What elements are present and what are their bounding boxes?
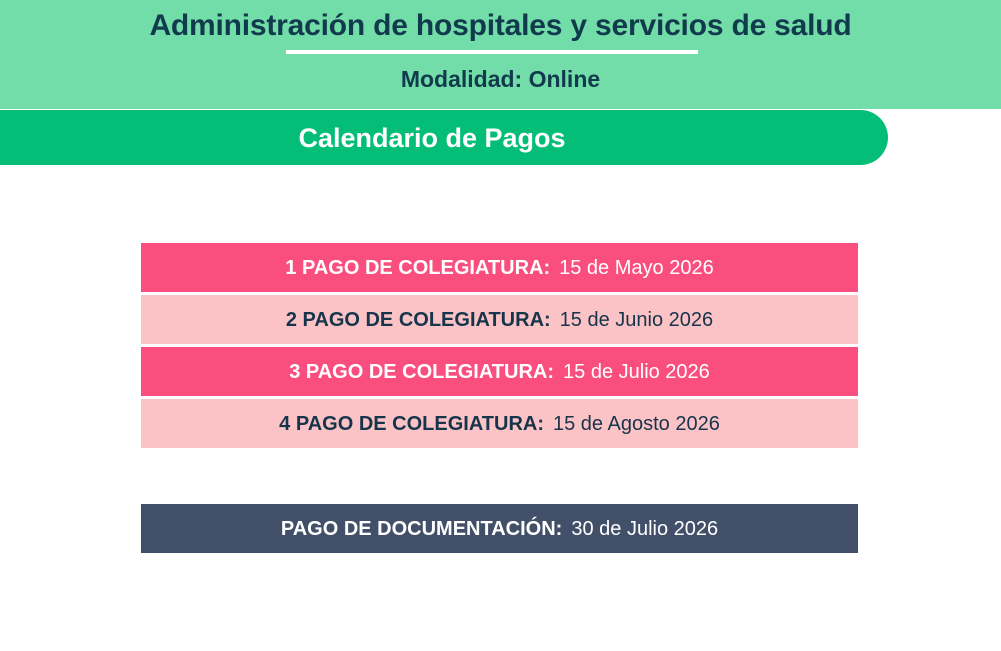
- modality-label: Modalidad: Online: [0, 63, 1001, 95]
- payment-date: 15 de Junio 2026: [560, 308, 713, 332]
- payment-label: 3 PAGO DE COLEGIATURA:: [289, 360, 554, 384]
- payment-date: 15 de Julio 2026: [563, 360, 710, 384]
- table-row: 3 PAGO DE COLEGIATURA: 15 de Julio 2026: [141, 347, 858, 396]
- payment-label: 1 PAGO DE COLEGIATURA:: [285, 256, 550, 280]
- table-row: 4 PAGO DE COLEGIATURA: 15 de Agosto 2026: [141, 399, 858, 448]
- payment-label: 4 PAGO DE COLEGIATURA:: [279, 412, 544, 436]
- calendar-banner: Calendario de Pagos: [0, 110, 888, 165]
- table-row: 2 PAGO DE COLEGIATURA: 15 de Junio 2026: [141, 295, 858, 344]
- documentation-payment-row: PAGO DE DOCUMENTACIÓN: 30 de Julio 2026: [141, 504, 858, 553]
- header-band: Administración de hospitales y servicios…: [0, 0, 1001, 109]
- tuition-payment-list: 1 PAGO DE COLEGIATURA: 15 de Mayo 2026 2…: [141, 243, 858, 451]
- title-divider: [286, 50, 698, 54]
- page-title: Administración de hospitales y servicios…: [0, 6, 1001, 46]
- payment-label: 2 PAGO DE COLEGIATURA:: [286, 308, 551, 332]
- payment-date: 15 de Mayo 2026: [559, 256, 714, 280]
- payment-date: 15 de Agosto 2026: [553, 412, 720, 436]
- table-row: 1 PAGO DE COLEGIATURA: 15 de Mayo 2026: [141, 243, 858, 292]
- payment-label: PAGO DE DOCUMENTACIÓN:: [281, 517, 562, 541]
- calendar-banner-label: Calendario de Pagos: [298, 123, 565, 153]
- payment-date: 30 de Julio 2026: [571, 517, 718, 541]
